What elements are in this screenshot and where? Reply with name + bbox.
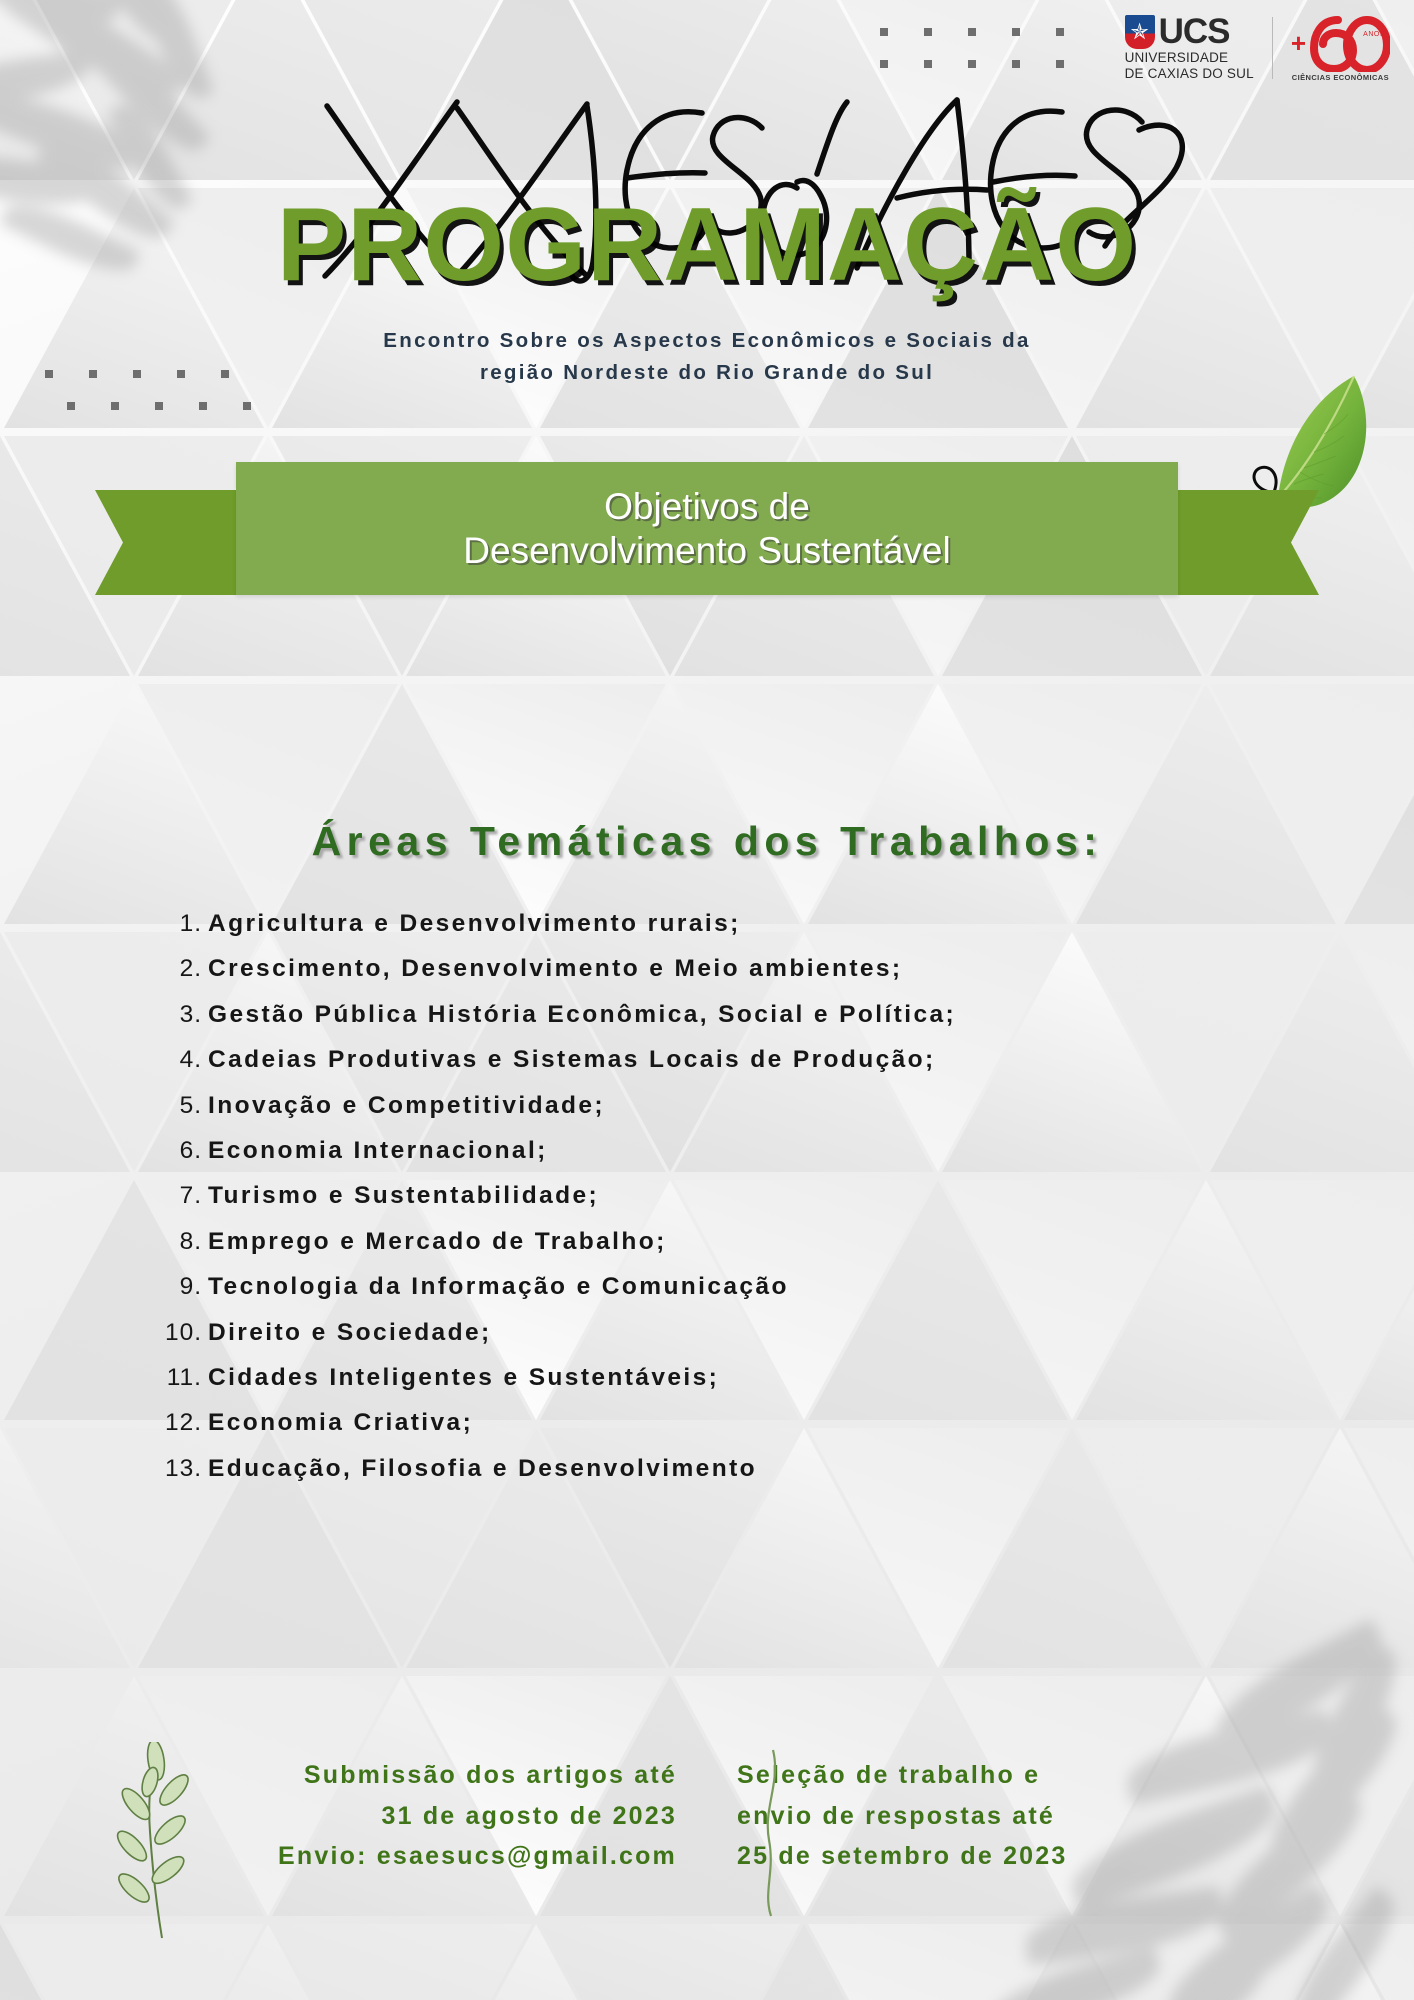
list-item-number: 4. xyxy=(140,1046,208,1074)
footer: Submissão dos artigos até 31 de agosto d… xyxy=(0,1755,1414,1915)
star-icon: ✯ xyxy=(1125,15,1155,49)
list-item-label: Agricultura e Desenvolvimento rurais; xyxy=(208,910,741,938)
footer-left-line-1: Submissão dos artigos até xyxy=(222,1755,677,1796)
ribbon-panel: Objetivos de Desenvolvimento Sustentável xyxy=(236,462,1178,595)
list-item-number: 10. xyxy=(140,1319,208,1347)
sixty-ring-icon xyxy=(1304,14,1390,72)
subtitle-line-1: Encontro Sobre os Aspectos Econômicos e … xyxy=(0,325,1414,357)
list-item-label: Inovação e Competitividade; xyxy=(208,1092,605,1120)
list-item-label: Educação, Filosofia e Desenvolvimento xyxy=(208,1455,757,1483)
list-item-label: Cidades Inteligentes e Sustentáveis; xyxy=(208,1364,719,1392)
ribbon-line-1: Objetivos de xyxy=(463,485,950,529)
list-item-number: 9. xyxy=(140,1273,208,1301)
footer-email[interactable]: Envio: esaesucs@gmail.com xyxy=(222,1836,677,1877)
footer-left-line-2: 31 de agosto de 2023 xyxy=(222,1796,677,1837)
wave-divider-icon xyxy=(757,1748,787,1918)
list-item-number: 11. xyxy=(140,1364,208,1392)
section-heading: Áreas Temáticas dos Trabalhos: xyxy=(0,818,1414,865)
list-item-label: Cadeias Produtivas e Sistemas Locais de … xyxy=(208,1046,936,1074)
list-item: 6.Economia Internacional; xyxy=(140,1137,1354,1165)
list-item-label: Emprego e Mercado de Trabalho; xyxy=(208,1228,667,1256)
list-item: 3.Gestão Pública História Econômica, Soc… xyxy=(140,1001,1354,1029)
list-item-label: Turismo e Sustentabilidade; xyxy=(208,1182,599,1210)
square-dots-icon xyxy=(880,28,1064,92)
list-item: 2.Crescimento, Desenvolvimento e Meio am… xyxy=(140,955,1354,983)
ribbon-banner: Objetivos de Desenvolvimento Sustentável xyxy=(95,462,1319,612)
list-item-label: Direito e Sociedade; xyxy=(208,1319,492,1347)
footer-divider xyxy=(757,1748,787,1923)
list-item-label: Gestão Pública História Econômica, Socia… xyxy=(208,1001,956,1029)
list-item: 11.Cidades Inteligentes e Sustentáveis; xyxy=(140,1364,1354,1392)
list-item-number: 5. xyxy=(140,1092,208,1120)
list-item: 10.Direito e Sociedade; xyxy=(140,1319,1354,1347)
footer-right-line-2: envio de respostas até xyxy=(737,1796,1192,1837)
list-item-number: 1. xyxy=(140,910,208,938)
page-title: PROGRAMAÇÃO xyxy=(0,193,1414,297)
list-item-number: 12. xyxy=(140,1409,208,1437)
ucs-logo: ✯ UCS UNIVERSIDADE DE CAXIAS DO SUL xyxy=(1125,15,1254,82)
areas-list: 1.Agricultura e Desenvolvimento rurais;2… xyxy=(140,910,1354,1500)
list-item-label: Tecnologia da Informação e Comunicação xyxy=(208,1273,789,1301)
list-item-number: 13. xyxy=(140,1455,208,1483)
list-item: 5.Inovação e Competitividade; xyxy=(140,1092,1354,1120)
ucs-acronym: UCS xyxy=(1159,16,1230,48)
logo-group: ✯ UCS UNIVERSIDADE DE CAXIAS DO SUL + AN… xyxy=(1125,14,1390,82)
list-item-number: 7. xyxy=(140,1182,208,1210)
ucs-name-line2: DE CAXIAS DO SUL xyxy=(1125,67,1254,81)
anniversary-logo: + ANOS CIÊNCIAS ECONÔMICAS xyxy=(1291,14,1390,82)
list-item: 12.Economia Criativa; xyxy=(140,1409,1354,1437)
list-item-number: 8. xyxy=(140,1228,208,1256)
footer-right-line-3: 25 de setembro de 2023 xyxy=(737,1836,1192,1877)
list-item: 13.Educação, Filosofia e Desenvolvimento xyxy=(140,1455,1354,1483)
list-item-number: 6. xyxy=(140,1137,208,1165)
anniversary-anos: ANOS xyxy=(1363,31,1385,38)
list-item: 4.Cadeias Produtivas e Sistemas Locais d… xyxy=(140,1046,1354,1074)
list-item: 7.Turismo e Sustentabilidade; xyxy=(140,1182,1354,1210)
list-item-label: Economia Criativa; xyxy=(208,1409,473,1437)
footer-left-column: Submissão dos artigos até 31 de agosto d… xyxy=(222,1755,707,1877)
anniversary-caption: CIÊNCIAS ECONÔMICAS xyxy=(1292,73,1389,82)
logo-divider xyxy=(1272,17,1273,79)
poster-canvas: ✯ UCS UNIVERSIDADE DE CAXIAS DO SUL + AN… xyxy=(0,0,1414,2000)
list-item: 9.Tecnologia da Informação e Comunicação xyxy=(140,1273,1354,1301)
footer-right-line-1: Seleção de trabalho e xyxy=(737,1755,1192,1796)
list-item-label: Economia Internacional; xyxy=(208,1137,548,1165)
ribbon-line-2: Desenvolvimento Sustentável xyxy=(463,529,950,573)
list-item-number: 2. xyxy=(140,955,208,983)
list-item-label: Crescimento, Desenvolvimento e Meio ambi… xyxy=(208,955,903,983)
list-item-number: 3. xyxy=(140,1001,208,1029)
list-item: 1.Agricultura e Desenvolvimento rurais; xyxy=(140,910,1354,938)
ucs-name-line1: UNIVERSIDADE xyxy=(1125,51,1229,65)
list-item: 8.Emprego e Mercado de Trabalho; xyxy=(140,1228,1354,1256)
